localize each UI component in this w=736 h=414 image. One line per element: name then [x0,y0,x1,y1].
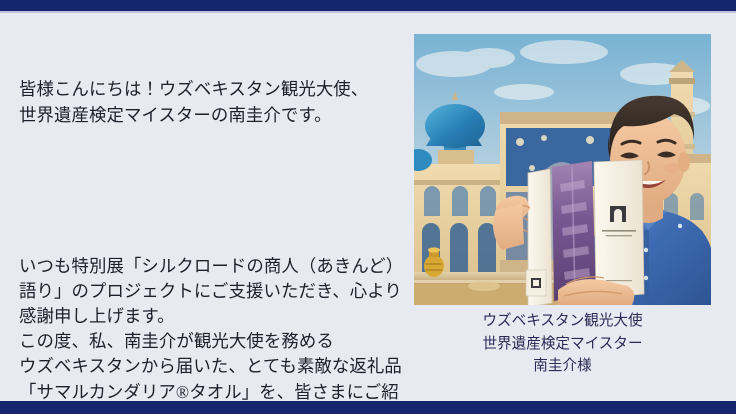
bottom-accent-bar [0,401,736,414]
ambassador-photo [414,34,711,305]
photo-illustration [414,34,711,305]
top-accent-bar-highlight [0,11,736,13]
caption-line-3: 南圭介様 [414,355,711,378]
caption-line-2: 世界遺産検定マイスター [414,333,711,356]
paragraph-spacer [19,178,407,203]
photo-caption: ウズベキスタン観光大使 世界遺産検定マイスター 南圭介様 [414,310,711,378]
presentation-slide: 皆様こんにちは！ウズベキスタン観光大使、 世界遺産検定マイスターの南圭介です。 … [0,0,736,414]
caption-line-1: ウズベキスタン観光大使 [414,310,711,333]
message-paragraph-1: 皆様こんにちは！ウズベキスタン観光大使、 世界遺産検定マイスターの南圭介です。 [19,77,407,127]
top-accent-bar [0,0,736,11]
photo-canvas [414,34,711,305]
message-body: 皆様こんにちは！ウズベキスタン観光大使、 世界遺産検定マイスターの南圭介です。 … [19,27,407,414]
message-paragraph-2: いつも特別展「シルクロードの商人（あきんど） 語り」のプロジェクトにご支援いただ… [19,254,407,414]
